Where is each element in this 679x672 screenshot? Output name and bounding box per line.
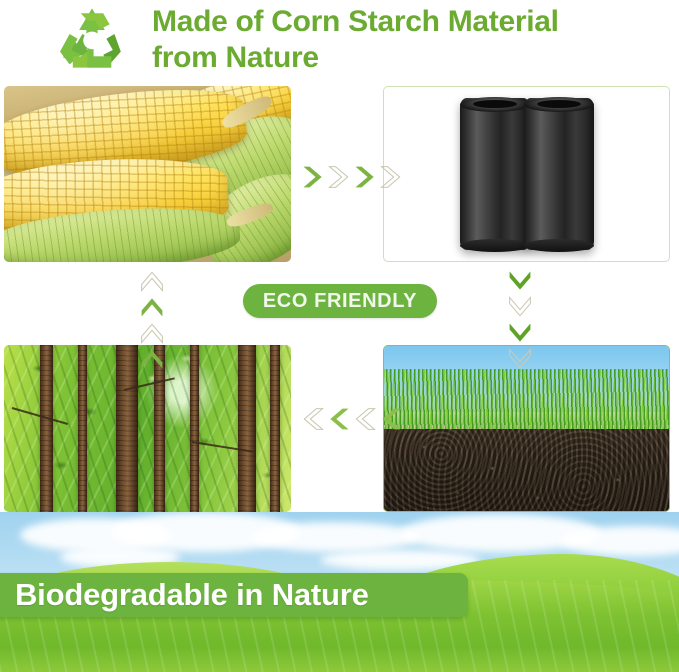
header: Made of Corn Starch Material from Nature (0, 0, 679, 86)
arrow-down-chevrons (505, 268, 535, 372)
chevron-left-icon (326, 404, 352, 434)
corn-cobs-photo (4, 86, 291, 262)
banner-label: Biodegradable in Nature (0, 577, 369, 613)
grass-blades (384, 369, 669, 432)
tree-trunk (78, 345, 87, 512)
page-title: Made of Corn Starch Material from Nature (152, 4, 672, 76)
chevron-up-icon (137, 320, 167, 346)
headline-line-2: from Nature (152, 40, 672, 76)
chevron-left-icon (300, 404, 326, 434)
arrow-up-chevrons (137, 268, 167, 372)
roll-bottom (460, 239, 530, 252)
tree-trunk (270, 345, 280, 512)
eco-friendly-label: ECO FRIENDLY (263, 290, 417, 313)
chevron-down-icon (505, 320, 535, 346)
tree-trunk (40, 345, 53, 512)
chevron-up-icon (137, 294, 167, 320)
black-trash-bag-rolls-photo (383, 86, 670, 262)
roll-top (460, 97, 530, 112)
biodegradable-banner: Biodegradable in Nature (0, 573, 468, 617)
chevron-right-icon (378, 162, 404, 192)
roll-bottom (524, 239, 594, 252)
cloud (250, 522, 420, 552)
tree-trunk (190, 345, 199, 512)
tree-trunk (238, 345, 256, 512)
chevron-right-icon (300, 162, 326, 192)
tree-trunk (116, 345, 138, 512)
eco-friendly-badge: ECO FRIENDLY (243, 284, 437, 318)
headline-line-1: Made of Corn Starch Material (152, 4, 672, 40)
chevron-up-icon (137, 346, 167, 372)
arrow-right-chevrons (300, 162, 404, 192)
infographic-page: Made of Corn Starch Material from Nature (0, 0, 679, 672)
chevron-left-icon (352, 404, 378, 434)
chevron-down-icon (505, 346, 535, 372)
chevron-right-icon (352, 162, 378, 192)
recycle-icon (38, 2, 146, 82)
chevron-up-icon (137, 268, 167, 294)
trash-bag-roll (460, 98, 530, 250)
chevron-down-icon (505, 294, 535, 320)
chevron-down-icon (505, 268, 535, 294)
chevron-left-icon (378, 404, 404, 434)
roll-pair (460, 98, 594, 250)
arrow-left-chevrons (300, 404, 404, 434)
trash-bag-roll (524, 98, 594, 250)
soil-layer (384, 429, 669, 512)
chevron-right-icon (326, 162, 352, 192)
roll-top (524, 97, 594, 112)
